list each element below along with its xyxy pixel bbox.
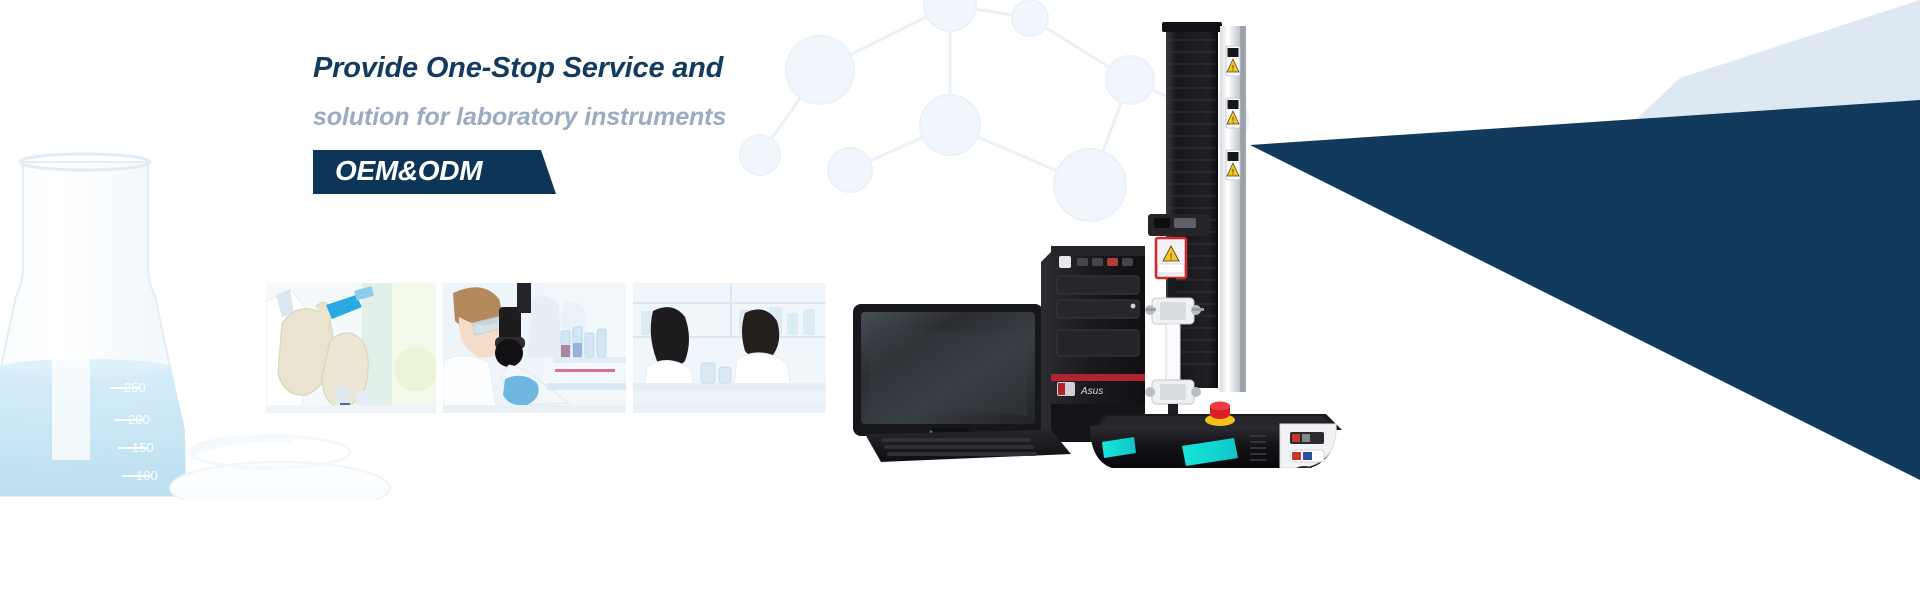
flask-graduation-200: 200 <box>128 412 150 427</box>
hero-banner: 250 200 150 100 mL Provide One-Stop Serv… <box>0 0 1920 597</box>
upper-grip <box>1145 298 1204 324</box>
photo-lab-technicians <box>633 283 826 413</box>
svg-text:!: ! <box>1232 168 1234 177</box>
flask-graduation-100: 100 <box>136 468 158 483</box>
headline-line-2: solution for laboratory instruments <box>313 105 1013 130</box>
photo-microscope-researcher <box>443 283 626 413</box>
machine-base <box>1090 402 1342 469</box>
universal-tensile-testing-machine: ! ! ! <box>1090 18 1390 468</box>
headline-line-1: Provide One-Stop Service and <box>313 54 1013 83</box>
dark-arrow-decor <box>1220 0 1920 480</box>
flask-graduation-250: 250 <box>124 380 146 395</box>
svg-text:●: ● <box>929 429 933 436</box>
lower-grip <box>1145 380 1201 418</box>
petri-dish <box>170 436 390 500</box>
emergency-stop-button <box>1205 402 1235 427</box>
headline-block: Provide One-Stop Service and solution fo… <box>313 54 1013 130</box>
machine-column: ! ! ! <box>1162 22 1246 392</box>
light-arrow-decor <box>1220 0 1920 460</box>
photo-strip <box>266 283 826 413</box>
molecule-background-graphic <box>700 0 1260 260</box>
photo-pipetting-gloves <box>266 283 436 413</box>
oem-odm-badge: OEM&ODM <box>313 150 556 194</box>
svg-text:!: ! <box>1232 116 1234 125</box>
svg-text:!: ! <box>1232 64 1234 73</box>
svg-text:!: ! <box>1170 252 1173 262</box>
test-specimen <box>1166 324 1180 382</box>
warning-labels: ! ! ! <box>1226 46 1240 180</box>
flask-unit-label: mL <box>72 355 92 371</box>
keyboard <box>865 430 1071 462</box>
monitor: ● <box>853 304 1043 443</box>
tower-pc: Asus <box>1041 246 1145 442</box>
accent-light-left <box>1102 437 1136 458</box>
accent-light-right <box>1182 438 1238 466</box>
badge-label: OEM&ODM <box>335 157 482 185</box>
svg-text:Asus: Asus <box>1080 386 1103 397</box>
crosshead-load-cell: ! <box>1148 214 1210 298</box>
flask-graduation-150: 150 <box>132 440 154 455</box>
